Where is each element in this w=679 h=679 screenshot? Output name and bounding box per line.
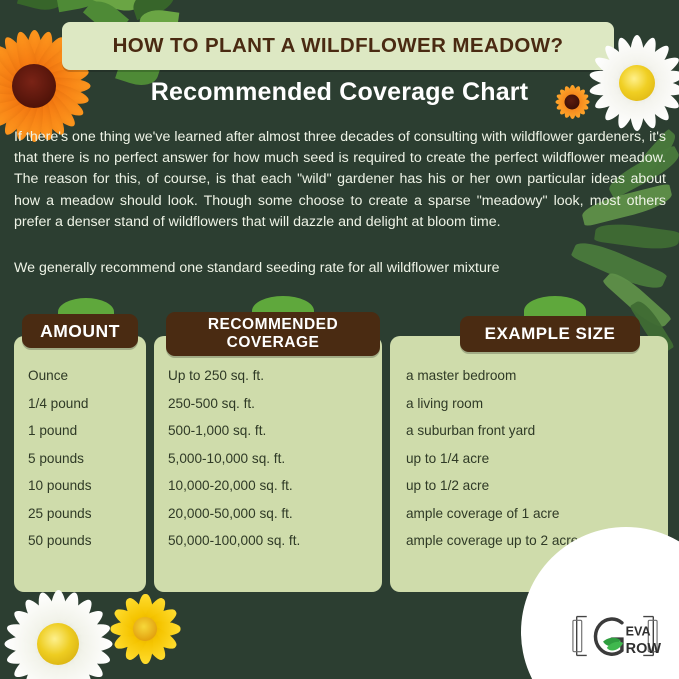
white-daisy-top-right-icon (578, 24, 679, 142)
table-row: 25 pounds (28, 500, 146, 528)
table-row: Ounce (28, 362, 146, 390)
table-row: 250-500 sq. ft. (168, 390, 382, 418)
table-row: up to 1/2 acre (404, 472, 668, 500)
page-title: HOW TO PLANT A WILDFLOWER MEADOW? (113, 34, 564, 58)
column-header-amount: AMOUNT (22, 314, 138, 348)
column-recommended-coverage: Up to 250 sq. ft. 250-500 sq. ft. 500-1,… (154, 336, 382, 592)
column-header-coverage-label: RECOMMENDED COVERAGE (208, 316, 338, 352)
table-row: 10 pounds (28, 472, 146, 500)
table-row: 5 pounds (28, 445, 146, 473)
coverage-label-line2: COVERAGE (227, 334, 320, 351)
logo-word-bottom: ROW (626, 641, 662, 657)
infographic-canvas: HOW TO PLANT A WILDFLOWER MEADOW? Recomm… (0, 0, 679, 679)
table-row: a master bedroom (404, 362, 668, 390)
column-header-amount-label: AMOUNT (40, 321, 120, 342)
yellow-coreopsis-flower-icon (102, 586, 188, 672)
coverage-label-line1: RECOMMENDED (208, 316, 338, 333)
seeding-rate-note: We generally recommend one standard seed… (14, 258, 666, 279)
example-rows: a master bedroom a living room a suburba… (390, 362, 668, 555)
table-row: 1/4 pound (28, 390, 146, 418)
table-row: 50 pounds (28, 527, 146, 555)
table-row: 5,000-10,000 sq. ft. (168, 445, 382, 473)
column-header-example-label: EXAMPLE SIZE (485, 324, 616, 344)
table-row: a living room (404, 390, 668, 418)
table-row: 10,000-20,000 sq. ft. (168, 472, 382, 500)
table-row: Up to 250 sq. ft. (168, 362, 382, 390)
table-row: a suburban front yard (404, 417, 668, 445)
column-amount: Ounce 1/4 pound 1 pound 5 pounds 10 poun… (14, 336, 146, 592)
table-row: 50,000-100,000 sq. ft. (168, 527, 382, 555)
title-banner: HOW TO PLANT A WILDFLOWER MEADOW? (62, 22, 614, 70)
logo-word-top: EVA (626, 624, 651, 638)
table-row: ample coverage of 1 acre (404, 500, 668, 528)
amount-rows: Ounce 1/4 pound 1 pound 5 pounds 10 poun… (14, 362, 146, 555)
table-row: 500-1,000 sq. ft. (168, 417, 382, 445)
eva-grow-logo: EVA ROW (567, 609, 663, 663)
table-row: 20,000-50,000 sq. ft. (168, 500, 382, 528)
intro-paragraph: If there's one thing we've learned after… (14, 127, 666, 233)
table-row: 1 pound (28, 417, 146, 445)
column-header-example-size: EXAMPLE SIZE (460, 316, 640, 352)
coverage-rows: Up to 250 sq. ft. 250-500 sq. ft. 500-1,… (154, 362, 382, 555)
table-row: up to 1/4 acre (404, 445, 668, 473)
column-header-recommended-coverage: RECOMMENDED COVERAGE (166, 312, 380, 356)
